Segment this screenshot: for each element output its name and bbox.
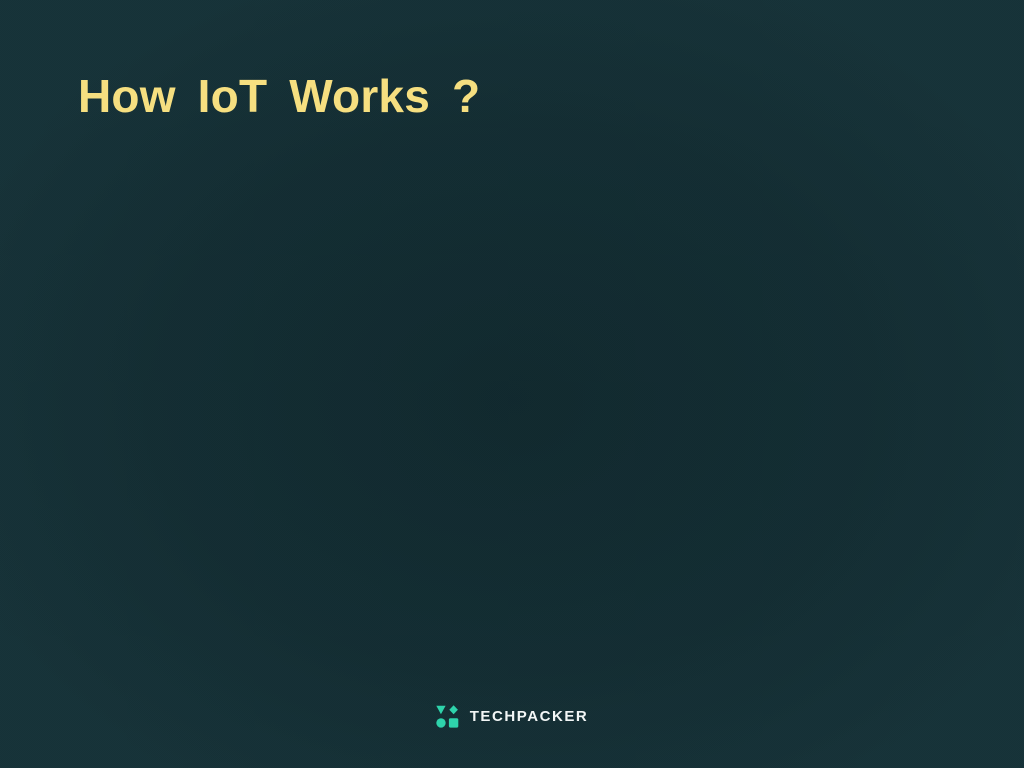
triangle-down-icon	[436, 706, 445, 715]
brand-wordmark: TECHPACKER	[470, 709, 589, 724]
slide-canvas: How IoT Works ? TECHPACKER	[0, 0, 1024, 768]
diamond-icon	[449, 705, 458, 714]
brand-lockup: TECHPACKER	[0, 705, 1024, 728]
title-block: How IoT Works ?	[78, 72, 480, 120]
techpacker-logo-mark	[436, 705, 459, 728]
page-title: How IoT Works ?	[78, 72, 480, 120]
rounded-square-icon	[449, 718, 458, 727]
slide-body-area	[78, 150, 946, 670]
circle-icon	[436, 718, 445, 727]
